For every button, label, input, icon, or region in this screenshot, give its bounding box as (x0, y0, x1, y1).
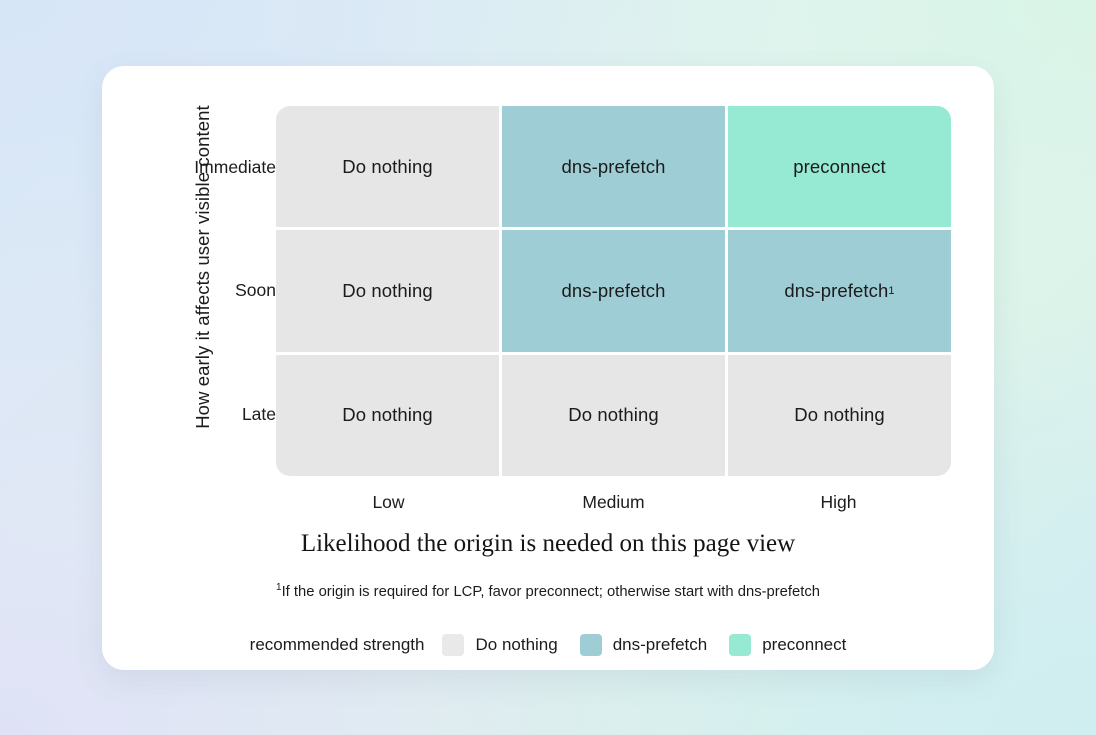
matrix-cell-late-high[interactable]: Do nothing (728, 355, 951, 476)
matrix-cell-label: Do nothing (794, 404, 884, 426)
matrix-cell-soon-medium[interactable]: dns-prefetch (502, 230, 725, 351)
y-tick-soon: Soon (235, 229, 276, 352)
chart-card: How early it affects user visible conten… (102, 66, 994, 670)
matrix-cell-late-low[interactable]: Do nothing (276, 355, 499, 476)
legend-item-dns-prefetch[interactable]: dns-prefetch (580, 634, 708, 656)
matrix-cell-immediate-high[interactable]: preconnect (728, 106, 951, 227)
x-tick-low: Low (276, 488, 501, 516)
matrix-cell-label: Do nothing (342, 156, 432, 178)
footnote: 1If the origin is required for LCP, favo… (102, 584, 994, 600)
matrix-cell-immediate-low[interactable]: Do nothing (276, 106, 499, 227)
x-tick-medium: Medium (501, 488, 726, 516)
legend-swatch-icon (729, 634, 751, 656)
legend-swatch-icon (442, 634, 464, 656)
matrix-cell-label: dns-prefetch (561, 280, 665, 302)
y-axis-tick-labels: Immediate Soon Late (162, 106, 276, 476)
legend-item-label: preconnect (762, 635, 846, 655)
matrix-cell-soon-low[interactable]: Do nothing (276, 230, 499, 351)
legend: recommended strength Do nothing dns-pref… (102, 634, 994, 656)
matrix-cell-label: dns-prefetch (784, 280, 888, 302)
page-background: How early it affects user visible conten… (0, 0, 1096, 735)
x-tick-high: High (726, 488, 951, 516)
matrix-cell-label: Do nothing (342, 280, 432, 302)
legend-item-preconnect[interactable]: preconnect (729, 634, 846, 656)
legend-item-label: dns-prefetch (613, 635, 708, 655)
x-axis-title: Likelihood the origin is needed on this … (102, 530, 994, 558)
matrix-cell-late-medium[interactable]: Do nothing (502, 355, 725, 476)
recommendation-matrix: Do nothing dns-prefetch preconnect Do no… (276, 106, 951, 476)
legend-title: recommended strength (250, 635, 425, 655)
y-tick-immediate: Immediate (194, 106, 276, 229)
x-axis-tick-labels: Low Medium High (276, 488, 951, 516)
legend-item-label: Do nothing (475, 635, 557, 655)
matrix-cell-label: Do nothing (568, 404, 658, 426)
footnote-text: If the origin is required for LCP, favor… (282, 584, 820, 600)
matrix-cell-soon-high[interactable]: dns-prefetch1 (728, 230, 951, 351)
legend-item-do-nothing[interactable]: Do nothing (442, 634, 557, 656)
matrix-cell-immediate-medium[interactable]: dns-prefetch (502, 106, 725, 227)
y-tick-late: Late (242, 353, 276, 476)
matrix-cell-label: Do nothing (342, 404, 432, 426)
legend-swatch-icon (580, 634, 602, 656)
matrix-cell-label: dns-prefetch (561, 156, 665, 178)
matrix-cell-label: preconnect (793, 156, 886, 178)
